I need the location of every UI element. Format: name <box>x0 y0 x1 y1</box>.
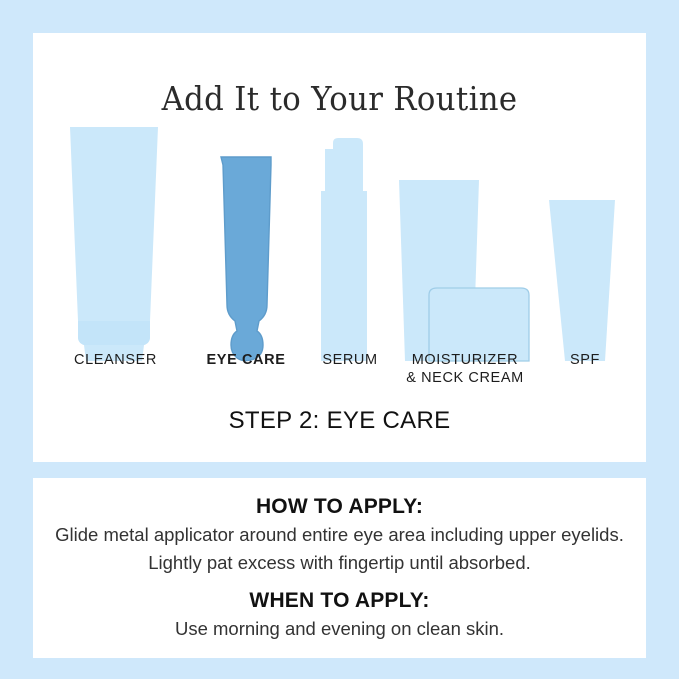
when-to-apply-body: Use morning and evening on clean skin. <box>33 613 646 643</box>
label-moisturizer-line2: & NECK CREAM <box>385 369 545 387</box>
serum-pump-bottle-icon <box>321 191 367 361</box>
product-labels: CLEANSER EYE CARE SERUM MOISTURIZER & NE… <box>33 351 646 411</box>
product-cleanser[interactable] <box>58 125 170 363</box>
routine-card: Add It to Your Routine <box>33 33 646 462</box>
how-to-apply-body: Glide metal applicator around entire eye… <box>33 519 646 577</box>
infographic-frame: Add It to Your Routine <box>0 0 679 679</box>
when-to-apply-heading: WHEN TO APPLY: <box>33 589 646 613</box>
label-spf[interactable]: SPF <box>548 351 622 369</box>
spf-tube-icon <box>549 200 615 361</box>
step-heading: STEP 2: EYE CARE <box>33 407 646 435</box>
product-lineup <box>33 103 646 363</box>
label-moisturizer[interactable]: MOISTURIZER & NECK CREAM <box>385 351 545 387</box>
how-to-apply-heading: HOW TO APPLY: <box>33 495 646 519</box>
product-serum[interactable] <box>313 135 375 363</box>
product-spf[interactable] <box>543 198 623 363</box>
section-spacer <box>33 577 646 589</box>
label-serum[interactable]: SERUM <box>305 351 395 369</box>
label-moisturizer-line1: MOISTURIZER <box>385 351 545 369</box>
label-cleanser[interactable]: CLEANSER <box>53 351 178 369</box>
product-moisturizer[interactable] <box>393 178 533 363</box>
instructions-card: HOW TO APPLY: Glide metal applicator aro… <box>33 478 646 658</box>
product-eye-care[interactable] <box>203 155 289 363</box>
label-eye-care[interactable]: EYE CARE <box>185 351 307 369</box>
eye-care-tube-icon <box>221 157 271 361</box>
